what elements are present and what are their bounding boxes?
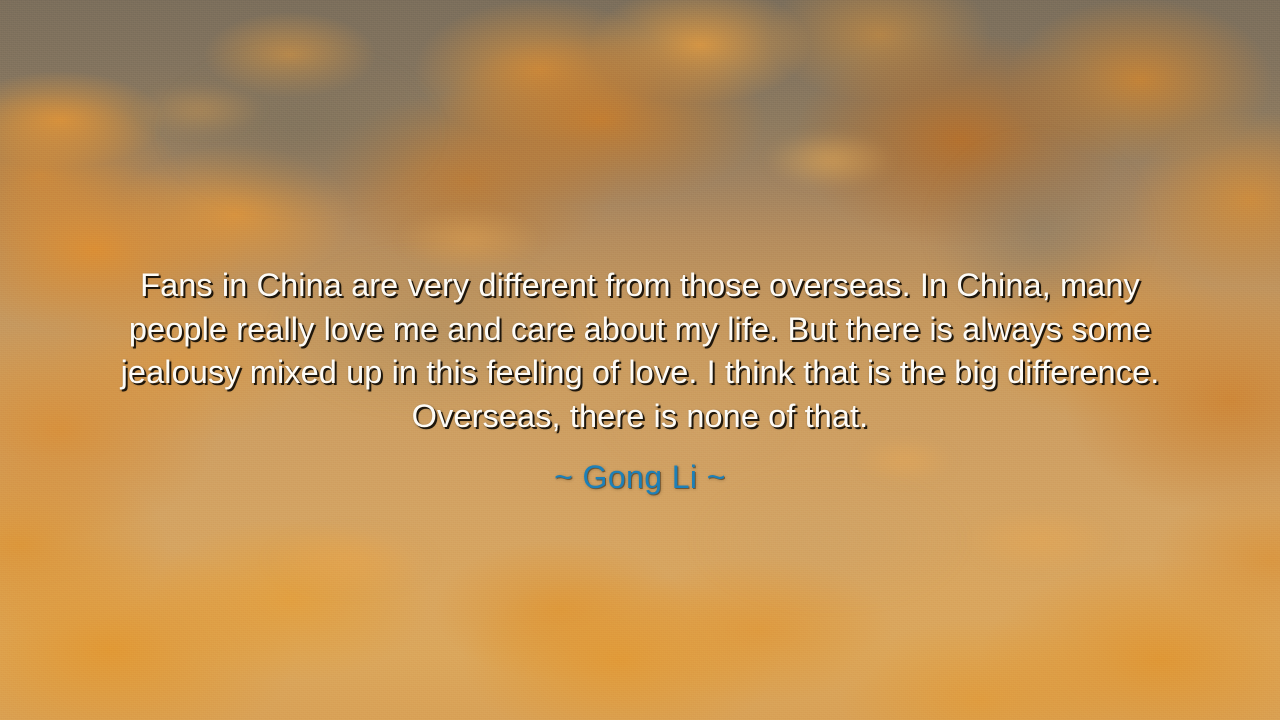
quote-attribution: ~ Gong Li ~ xyxy=(0,457,1280,497)
quote-body-text: Fans in China are very different from th… xyxy=(105,264,1175,438)
quote-text-block: Fans in China are very different from th… xyxy=(0,264,1280,497)
quote-card: Fans in China are very different from th… xyxy=(0,0,1280,720)
